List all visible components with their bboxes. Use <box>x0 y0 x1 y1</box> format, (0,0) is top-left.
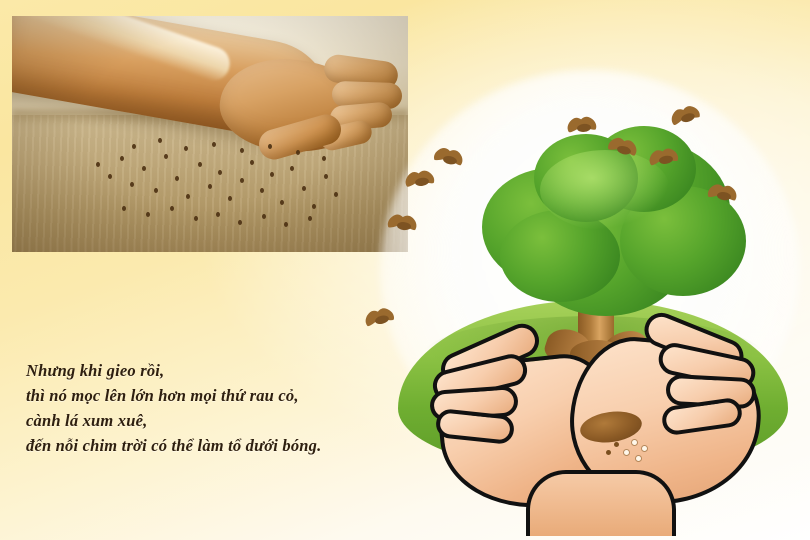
caption-line-1: Nhưng khi gieo rồi, <box>26 358 418 383</box>
caption-line-3: cành lá xum xuê, <box>26 408 418 433</box>
photo-vignette <box>12 16 408 252</box>
sowing-photo <box>12 16 408 252</box>
bird-icon <box>385 214 421 237</box>
seed-grain <box>636 456 641 461</box>
open-cupped-hands <box>430 300 770 530</box>
caption-line-2: thì nó mọc lên lớn hơn mọi thứ rau cỏ, <box>26 383 418 408</box>
seed-grain <box>624 450 629 455</box>
wrist <box>526 470 676 536</box>
bird-icon <box>565 116 601 139</box>
tree-illustration <box>370 0 810 540</box>
seed-grain <box>606 450 611 455</box>
seed-grain <box>632 440 637 445</box>
illustration-canvas: Nhưng khi gieo rồi, thì nó mọc lên lớn h… <box>0 0 810 540</box>
caption-line-4: đến nỗi chim trời có thể làm tổ dưới bón… <box>26 433 418 458</box>
caption-block: Nhưng khi gieo rồi, thì nó mọc lên lớn h… <box>26 358 418 458</box>
seed-grain <box>614 442 619 447</box>
seed-grain <box>642 446 647 451</box>
